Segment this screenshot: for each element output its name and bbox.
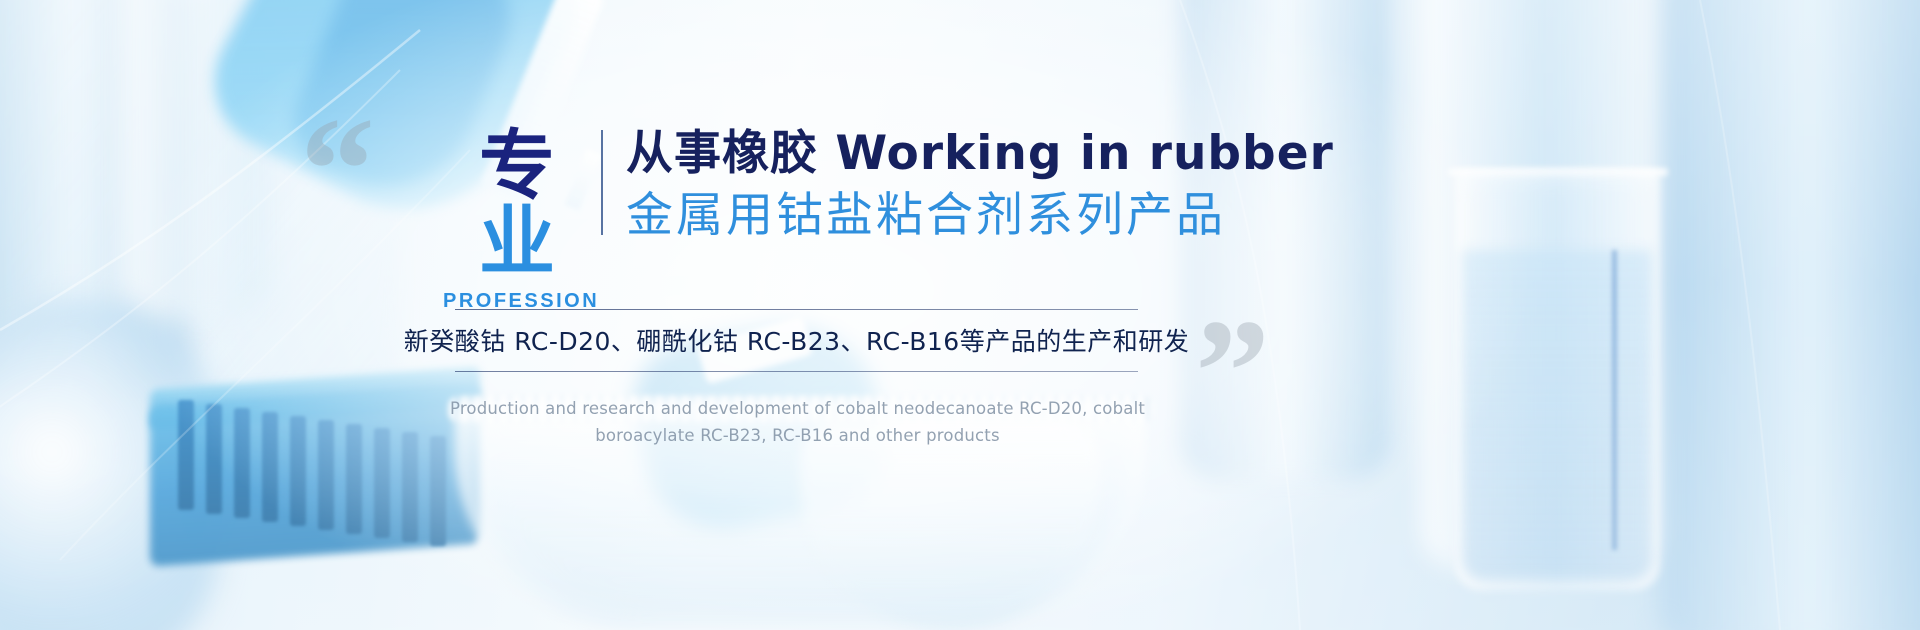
vertical-divider <box>601 130 603 235</box>
headline-block: 从事橡胶 Working in rubber 金属用钴盐粘合剂系列产品 <box>626 128 1334 243</box>
subtitle-text: 新癸酸钴 RC-D20、硼酰化钴 RC-B23、RC-B16等产品的生产和研发 <box>455 309 1138 371</box>
quote-close-icon: ” <box>1195 320 1270 425</box>
quote-open-icon: “ <box>300 118 375 223</box>
description-text: Production and research and development … <box>440 396 1155 449</box>
subtitle-rule-bottom <box>455 371 1138 372</box>
banner-content: “ ” 专业 PROFESSION 从事橡胶 Working in rubber… <box>0 0 1920 630</box>
profession-logo: 专业 PROFESSION <box>443 128 593 313</box>
headline-line-2: 金属用钴盐粘合剂系列产品 <box>626 189 1334 243</box>
logo-chinese-text: 专业 <box>443 128 593 280</box>
headline-line-1: 从事橡胶 Working in rubber <box>626 128 1334 180</box>
logo-char-ye: 业 <box>479 197 557 286</box>
